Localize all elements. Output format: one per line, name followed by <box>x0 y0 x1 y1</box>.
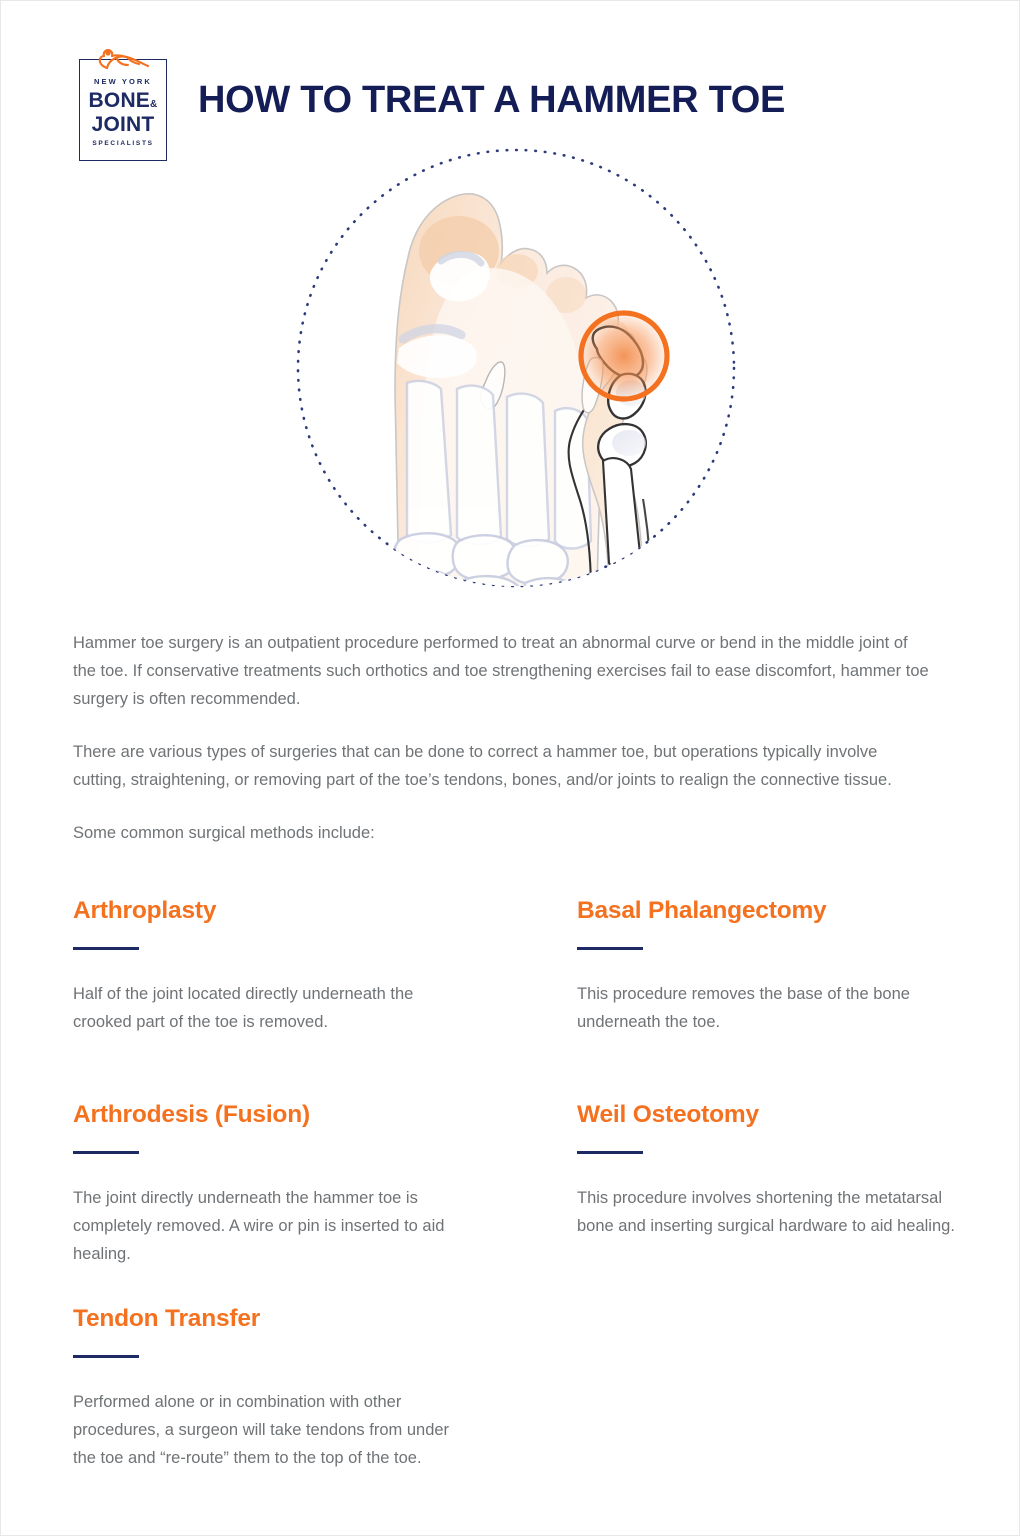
methods-column-left: Arthroplasty Half of the joint located d… <box>73 896 473 1472</box>
method-underline <box>73 1355 139 1358</box>
method-description: This procedure involves shortening the m… <box>577 1184 977 1240</box>
method-title: Arthrodesis (Fusion) <box>73 1100 473 1130</box>
intro-paragraph-1: Hammer toe surgery is an outpatient proc… <box>73 629 935 713</box>
method-description: Half of the joint located directly under… <box>73 980 473 1036</box>
method-tendon-transfer: Tendon Transfer Performed alone or in co… <box>73 1304 473 1472</box>
method-title: Tendon Transfer <box>73 1304 473 1334</box>
method-title: Basal Phalangectomy <box>577 896 977 926</box>
method-description: Performed alone or in combination with o… <box>73 1388 473 1472</box>
method-underline <box>577 1151 643 1154</box>
method-underline <box>73 1151 139 1154</box>
method-basal-phalangectomy: Basal Phalangectomy This procedure remov… <box>577 896 977 1036</box>
logo-bone-text: BONE& <box>79 89 167 113</box>
reclining-person-icon <box>97 45 151 75</box>
method-description: This procedure removes the base of the b… <box>577 980 977 1036</box>
methods-column-right: Basal Phalangectomy This procedure remov… <box>577 896 977 1240</box>
intro-text-block: Hammer toe surgery is an outpatient proc… <box>73 629 935 847</box>
page-header: NEW YORK BONE& JOINT SPECIALISTS HOW TO … <box>1 1 1020 161</box>
method-arthroplasty: Arthroplasty Half of the joint located d… <box>73 896 473 1036</box>
method-description: The joint directly underneath the hammer… <box>73 1184 473 1268</box>
method-title: Weil Osteotomy <box>577 1100 977 1130</box>
method-underline <box>577 947 643 950</box>
method-title: Arthroplasty <box>73 896 473 926</box>
method-arthrodesis-fusion: Arthrodesis (Fusion) The joint directly … <box>73 1100 473 1268</box>
brand-logo[interactable]: NEW YORK BONE& JOINT SPECIALISTS <box>79 45 167 161</box>
intro-paragraph-3: Some common surgical methods include: <box>73 819 935 847</box>
logo-bone-word: BONE <box>89 89 150 112</box>
logo-new-york-text: NEW YORK <box>79 77 167 86</box>
logo-joint-text: JOINT <box>79 113 167 137</box>
method-underline <box>73 947 139 950</box>
logo-ampersand: & <box>150 99 157 110</box>
logo-specialists-text: SPECIALISTS <box>79 140 167 147</box>
hammer-toe-illustration <box>291 143 741 593</box>
infographic-page: NEW YORK BONE& JOINT SPECIALISTS HOW TO … <box>0 0 1020 1536</box>
method-weil-osteotomy: Weil Osteotomy This procedure involves s… <box>577 1100 977 1240</box>
intro-paragraph-2: There are various types of surgeries tha… <box>73 738 935 794</box>
page-title: HOW TO TREAT A HAMMER TOE <box>198 79 785 122</box>
